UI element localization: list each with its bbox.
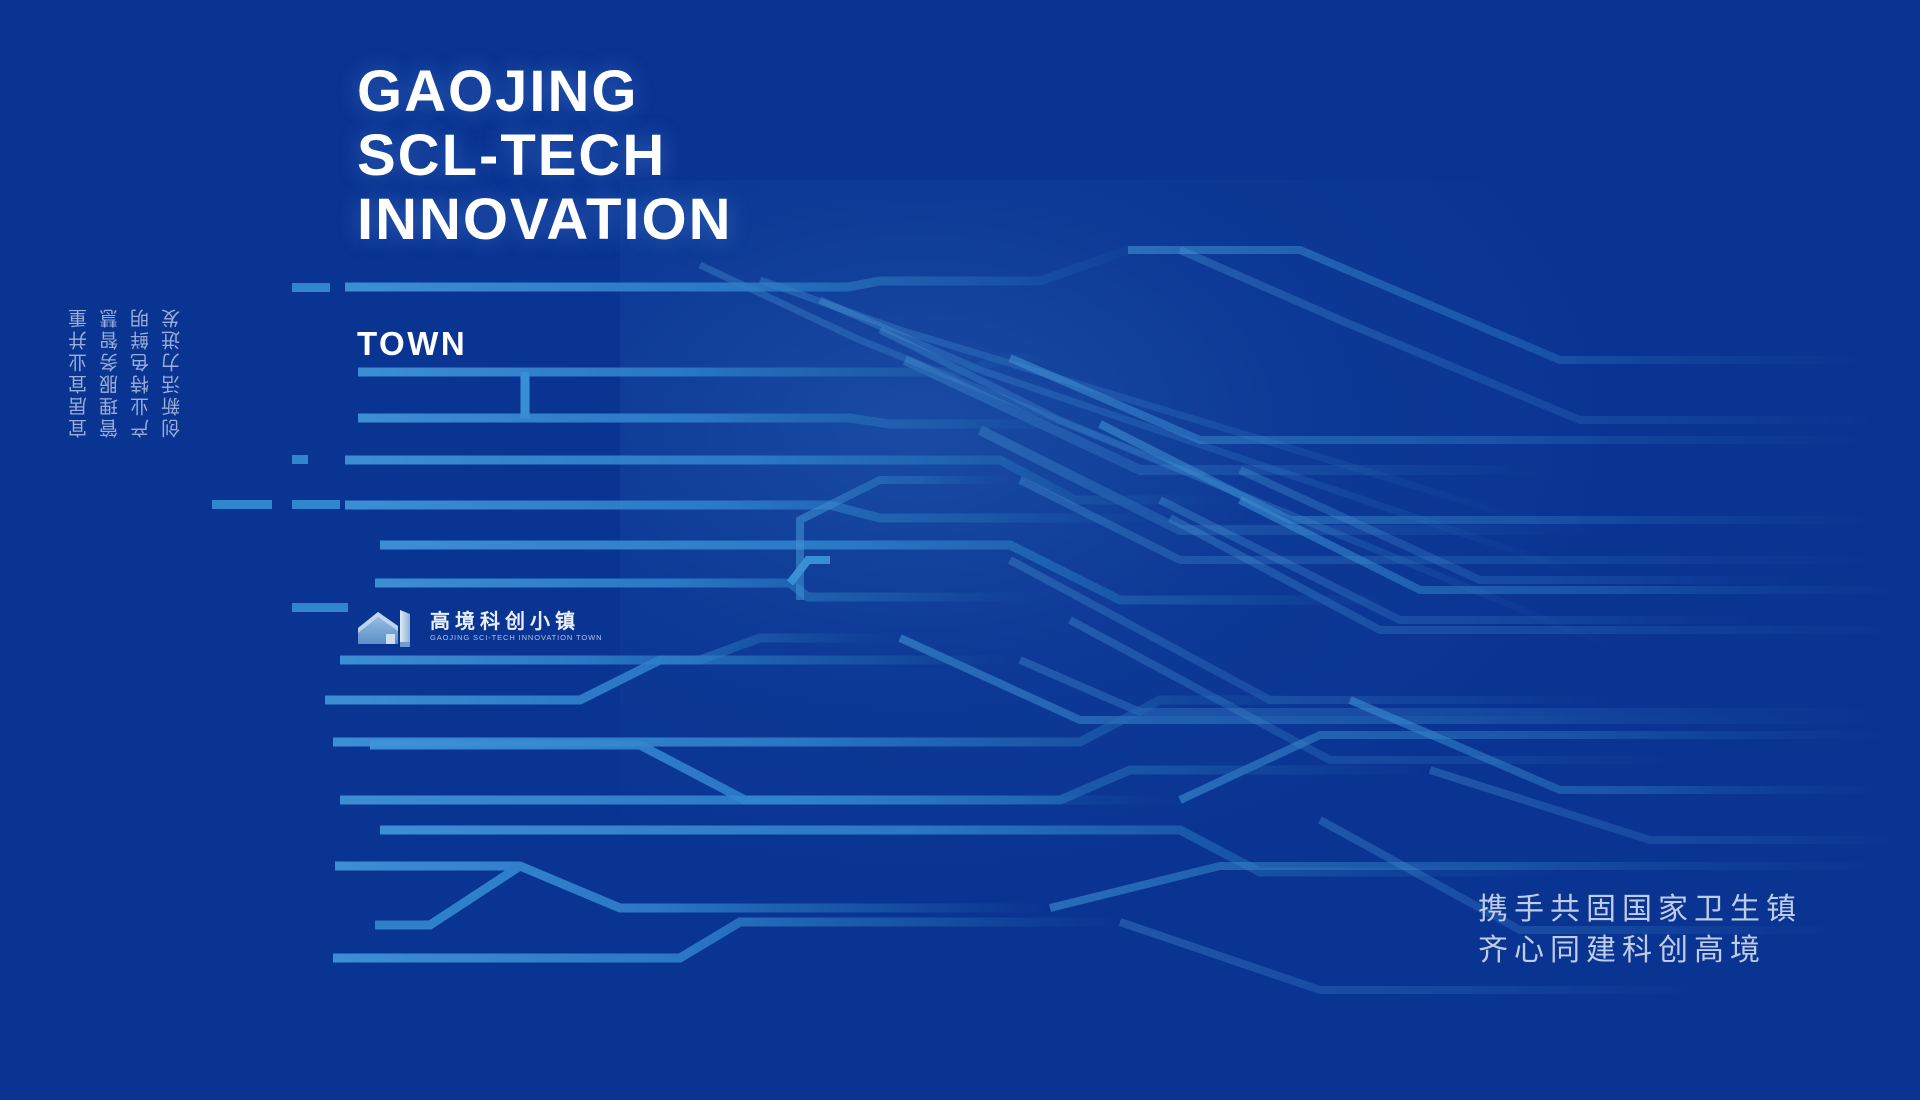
slogan-columns: 创新活力迸发 产业特色鲜明 管理服务智慧 宜居宜业并重 [70,218,182,438]
tagline-line-2: 齐心同建科创高境 [1478,931,1802,972]
poster-canvas: GAOJING SCL-TECH INNOVATION TOWN 创新活力迸发 … [0,0,1920,1100]
slogan-column-3: 管理服务智慧 [101,218,120,438]
slogan-column-4: 宜居宜业并重 [70,218,89,438]
tagline: 携手共固国家卫生镇 齐心同建科创高境 [1478,890,1802,971]
tagline-line-1: 携手共固国家卫生镇 [1478,890,1802,931]
brand-name-cn: 高境科创小镇 [430,612,602,632]
slogan-column-2: 产业特色鲜明 [132,218,151,438]
page-title: GAOJING SCL-TECH INNOVATION [357,60,733,251]
brand-logo: 高境科创小镇 GAOJING SCI-TECH INNOVATION TOWN [356,604,602,650]
slogan-column-1: 创新活力迸发 [163,218,182,438]
house-building-icon [356,604,418,650]
brand-name-en: GAOJING SCI-TECH INNOVATION TOWN [430,634,602,642]
page-subtitle: TOWN [357,325,467,363]
brand-wordmark: 高境科创小镇 GAOJING SCI-TECH INNOVATION TOWN [430,612,602,642]
